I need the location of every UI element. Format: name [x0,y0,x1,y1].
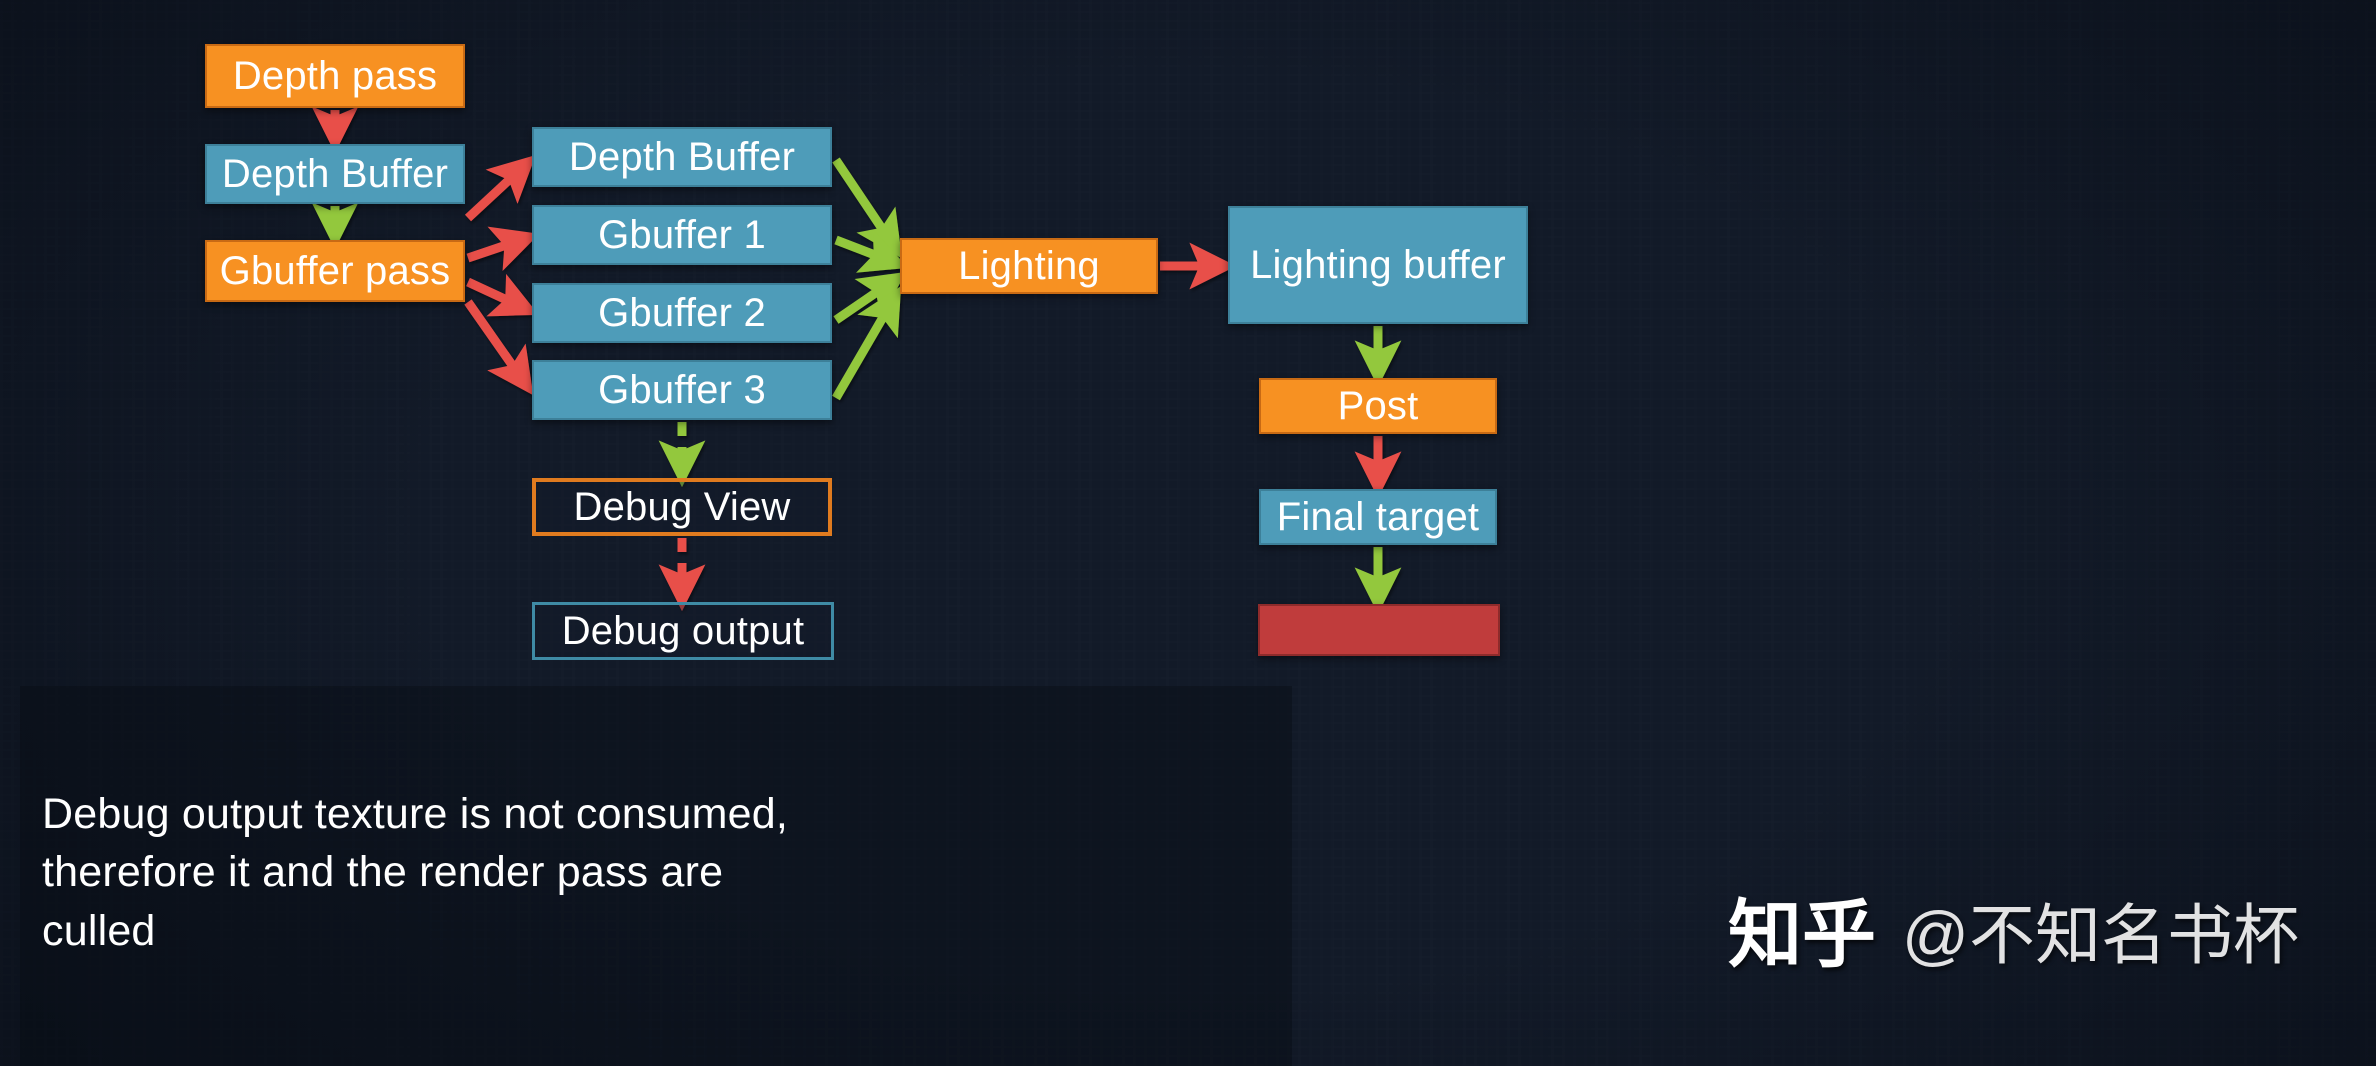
node-label: Gbuffer 1 [598,214,766,256]
node-lighting[interactable]: Lighting [900,238,1158,294]
node-depth-buffer-left[interactable]: Depth Buffer [205,144,465,204]
node-debug-view[interactable]: Debug View [532,478,832,536]
node-label: Lighting buffer [1250,244,1506,286]
node-label: Depth pass [233,55,437,97]
watermark: 知乎 @不知名书杯 [1728,898,2299,972]
node-gbuffer-1[interactable]: Gbuffer 1 [532,205,832,265]
node-label: Gbuffer 2 [598,292,766,334]
node-label: Lighting [958,245,1100,287]
node-gbuffer-pass[interactable]: Gbuffer pass [205,240,465,302]
node-depth-buffer-mid[interactable]: Depth Buffer [532,127,832,187]
node-label: Depth Buffer [569,136,795,178]
annotation-text: Debug output texture is not consumed, th… [42,785,802,960]
node-label: Gbuffer 3 [598,369,766,411]
node-label: Post [1338,385,1419,427]
diagram-canvas: Depth pass Depth Buffer Gbuffer pass Dep… [0,0,2376,1066]
node-post[interactable]: Post [1259,378,1497,434]
watermark-user-handle: @不知名书杯 [1902,902,2299,968]
node-depth-pass[interactable]: Depth pass [205,44,465,108]
node-gbuffer-2[interactable]: Gbuffer 2 [532,283,832,343]
node-label: Final target [1277,496,1480,538]
node-label: Depth Buffer [222,153,448,195]
node-gbuffer-3[interactable]: Gbuffer 3 [532,360,832,420]
node-label: Gbuffer pass [220,250,451,292]
node-debug-output[interactable]: Debug output [532,602,834,660]
node-label: Debug View [574,486,791,528]
node-final-target[interactable]: Final target [1259,489,1497,545]
node-lighting-buffer[interactable]: Lighting buffer [1228,206,1528,324]
zhihu-logo: 知乎 [1728,898,1876,972]
node-label: Debug output [562,610,805,652]
node-present[interactable] [1258,604,1500,656]
